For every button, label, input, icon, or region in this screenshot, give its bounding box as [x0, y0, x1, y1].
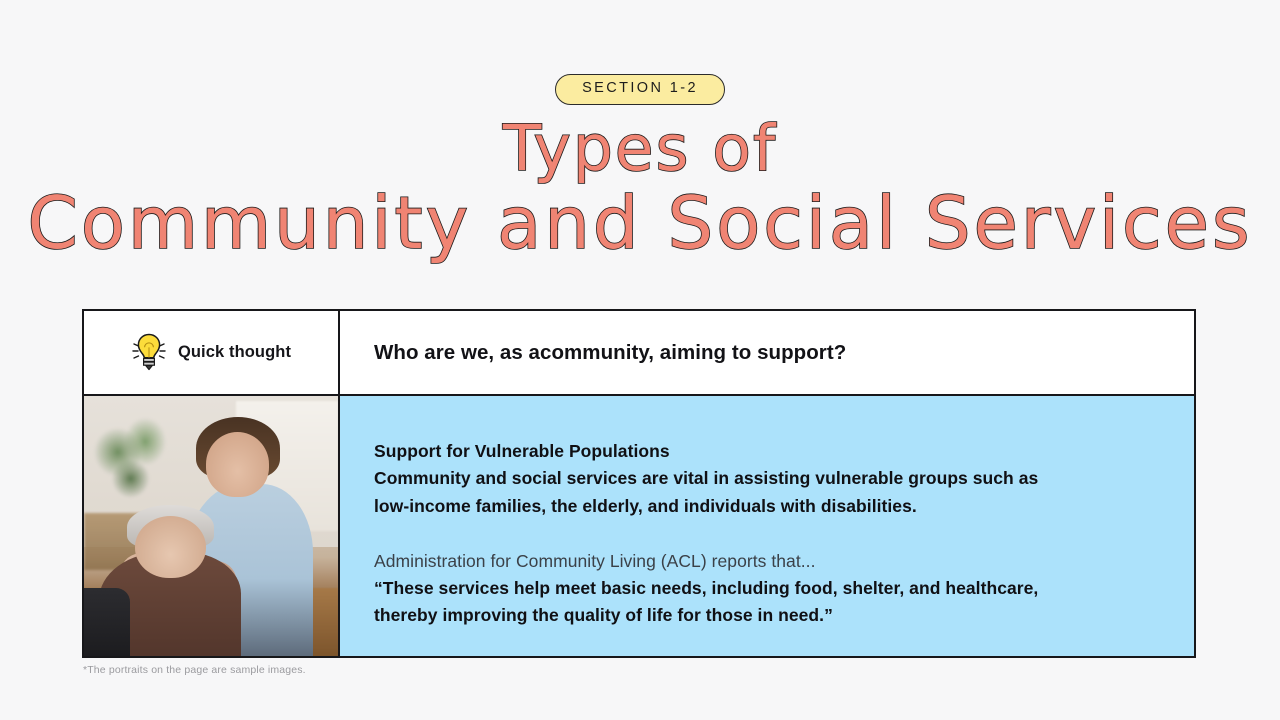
content-table: Quick thought Who are we, as acommunity,… [82, 309, 1196, 658]
section-badge: SECTION 1-2 [555, 74, 725, 105]
sample-photo-image [84, 396, 338, 656]
section-badge-row: SECTION 1-2 [0, 74, 1280, 105]
table-row-header: Quick thought Who are we, as acommunity,… [84, 311, 1194, 396]
source-attribution: Administration for Community Living (ACL… [374, 548, 1194, 575]
page-title-line-2: Community and Social Services [0, 188, 1280, 259]
quick-thought: Quick thought [131, 331, 291, 375]
lightbulb-icon [131, 331, 167, 375]
quick-thought-label: Quick thought [178, 343, 291, 362]
question-text: Who are we, as acommunity, aiming to sup… [374, 341, 846, 365]
info-panel: Support for Vulnerable Populations Commu… [340, 396, 1194, 656]
footnote: *The portraits on the page are sample im… [83, 664, 306, 676]
question-cell: Who are we, as acommunity, aiming to sup… [340, 311, 1194, 394]
sample-photo [84, 396, 340, 656]
quote-line-2: thereby improving the quality of life fo… [374, 602, 1194, 629]
quote-line-1: “These services help meet basic needs, i… [374, 575, 1194, 602]
paragraph-line-2: low-income families, the elderly, and in… [374, 493, 1194, 520]
table-row-body: Support for Vulnerable Populations Commu… [84, 396, 1194, 656]
page-title-line-1: Types of [0, 118, 1280, 180]
quick-thought-cell: Quick thought [84, 311, 340, 394]
paragraph-line-1: Community and social services are vital … [374, 465, 1194, 492]
page-title: Types of Community and Social Services [0, 118, 1280, 260]
paragraph-title: Support for Vulnerable Populations [374, 438, 1194, 465]
